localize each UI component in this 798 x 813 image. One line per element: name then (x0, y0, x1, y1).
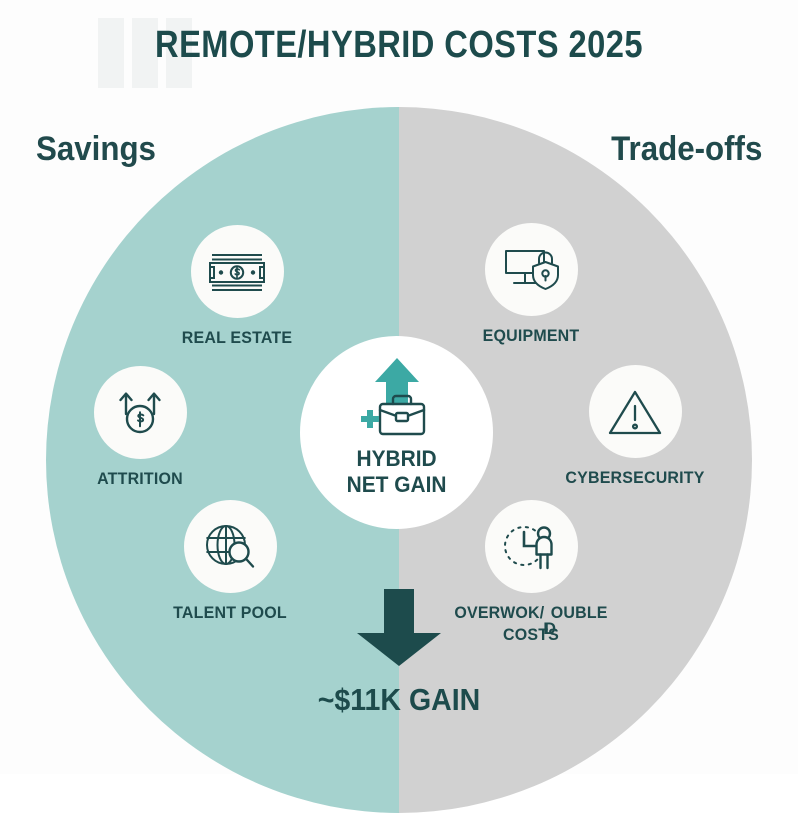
arrow-down-icon (351, 589, 447, 666)
plus-icon (361, 410, 379, 428)
node-label: CYBERSECURITY (560, 467, 710, 489)
overwork-label-part1: OVERWOK/ (454, 603, 544, 622)
page-title: REMOTE/HYBRID COSTS 2025 (56, 24, 742, 67)
icon-bubble (485, 223, 578, 316)
node-overwork-double-costs[interactable]: OVERWOK/DIOUBLECOSTS (441, 500, 621, 646)
center-label: HYBRIDNET GAIN (347, 446, 447, 497)
node-label: ATTRITION (65, 468, 215, 490)
node-label: EQUIPMENT (456, 325, 606, 347)
node-cybersecurity[interactable]: CYBERSECURITY (555, 365, 715, 489)
icon-bubble (485, 500, 578, 593)
infographic-canvas: REMOTE/HYBRID COSTS 2025 Savings Trade-o… (0, 0, 798, 774)
node-label: OVERWOK/DIOUBLECOSTS (446, 602, 615, 646)
node-equipment[interactable]: EQUIPMENT (451, 223, 611, 347)
center-label-line1: HYBRID (356, 446, 436, 471)
warning-triangle-icon (607, 387, 663, 437)
node-real-estate[interactable]: REAL ESTATE (157, 225, 317, 349)
center-label-line2: NET GAIN (347, 472, 447, 497)
coin-dollar-arrows-up-icon (113, 388, 167, 438)
icon-bubble (589, 365, 682, 458)
banknote-dollar-icon (208, 252, 266, 292)
icon-bubble (184, 500, 277, 593)
total-gain-label: ~$11K GAIN (32, 682, 766, 718)
clock-person-icon (502, 521, 560, 573)
overwork-label-part2: OUBLE (551, 603, 608, 622)
icon-bubble (191, 225, 284, 318)
hybrid-net-gain-icon (349, 356, 445, 440)
node-attrition[interactable]: ATTRITION (60, 366, 220, 490)
globe-magnifier-icon (203, 521, 257, 573)
glyph-i: I (543, 618, 548, 640)
monitor-shield-lock-icon (503, 246, 559, 294)
node-label: TALENT POOL (155, 602, 305, 624)
center-hub[interactable]: HYBRIDNET GAIN (300, 336, 493, 529)
icon-bubble (94, 366, 187, 459)
node-talent-pool[interactable]: TALENT POOL (150, 500, 310, 624)
node-label: REAL ESTATE (162, 327, 312, 349)
